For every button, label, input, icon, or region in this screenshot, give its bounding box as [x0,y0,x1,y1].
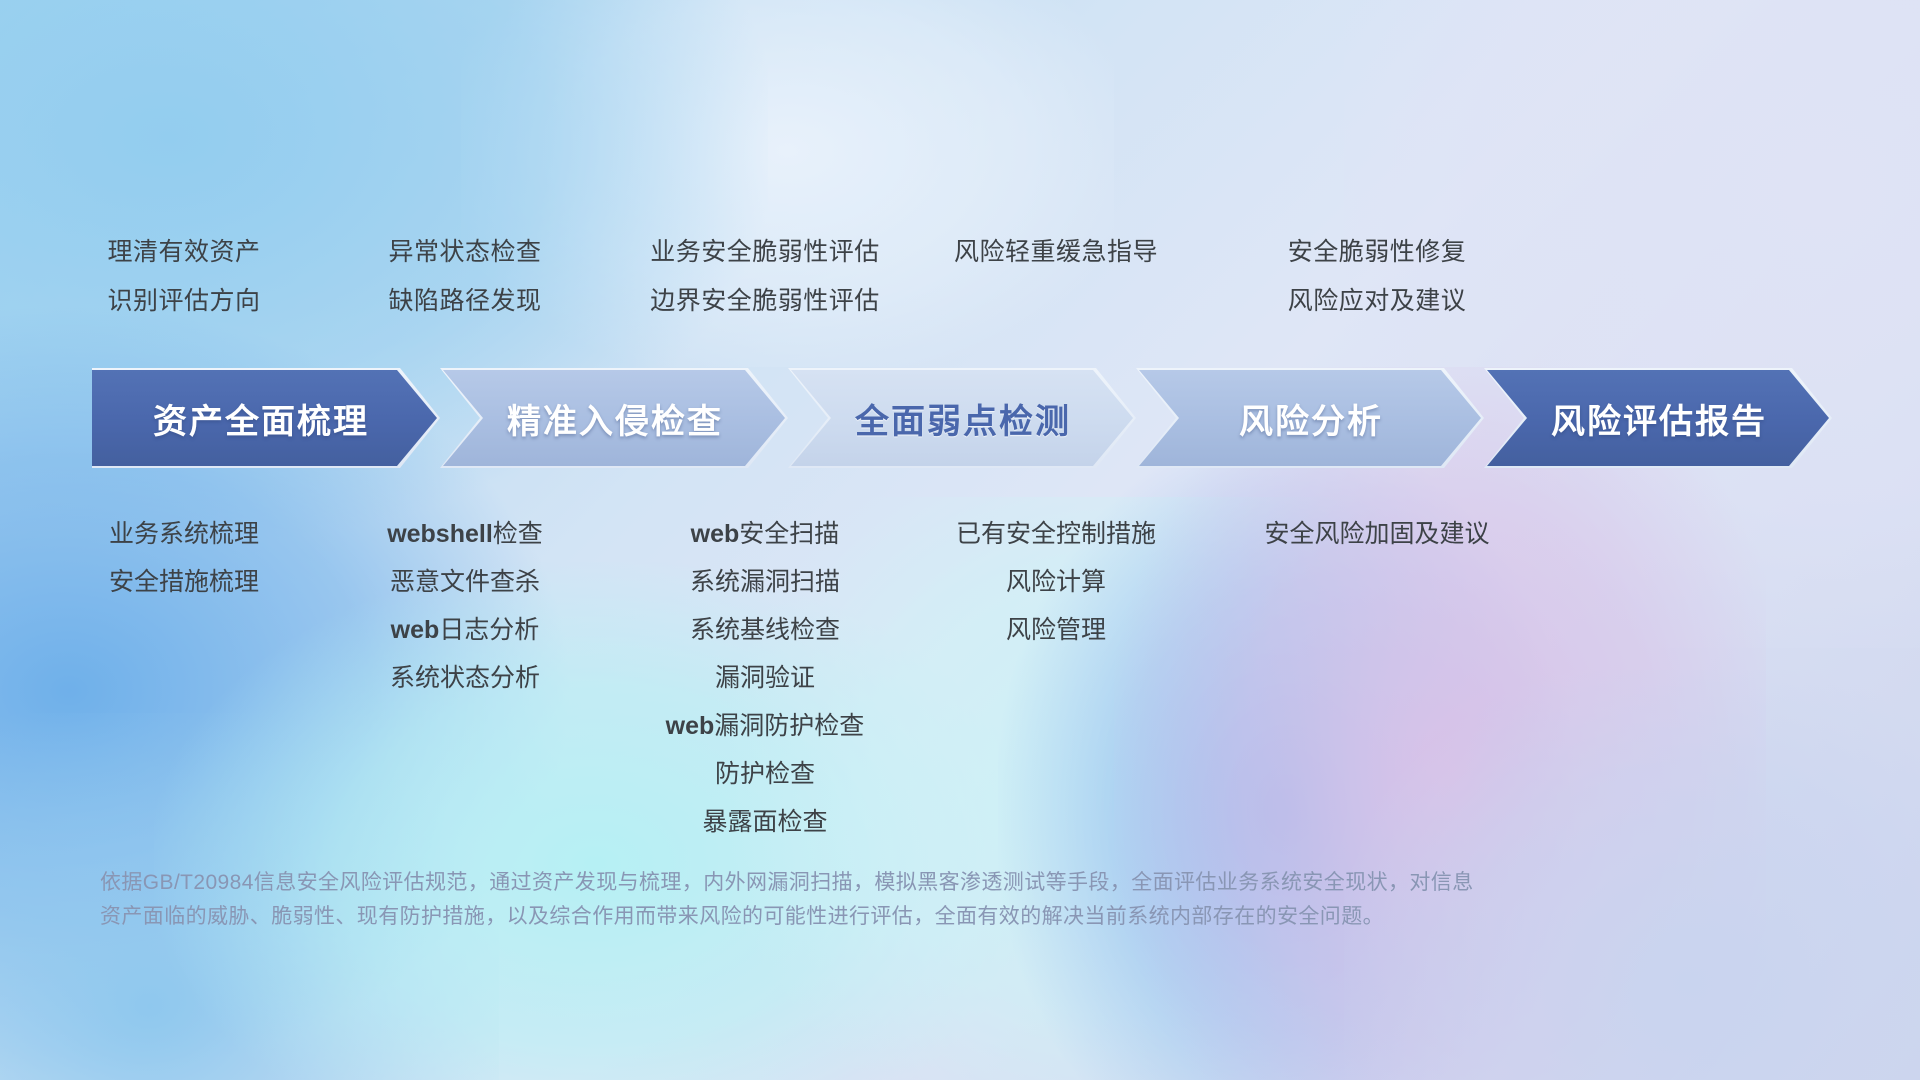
bottom-caption-item: 安全措施梳理 [109,558,259,606]
stage-arrow-3[interactable]: 全面弱点检测 [788,368,1136,468]
top-caption-item: 业务安全脆弱性评估 [650,228,880,277]
bottom-caption-item: 风险管理 [1006,606,1106,654]
top-caption-group-5: 安全脆弱性修复风险应对及建议 [1197,228,1557,326]
stage-arrow-label: 资产全面梳理 [153,394,369,443]
stage-arrow-label: 精准入侵检查 [507,394,723,443]
bottom-caption-item: 暴露面检查 [702,798,827,846]
stage-arrow-2[interactable]: 精准入侵检查 [440,368,788,468]
stage-arrow-1[interactable]: 资产全面梳理 [92,368,440,468]
bottom-caption-item: 系统状态分析 [390,654,540,702]
footer-description: 依据GB/T20984信息安全风险评估规范，通过资产发现与梳理，内外网漏洞扫描，… [100,866,1620,934]
bottom-caption-keyword: web [391,616,440,644]
top-caption-item: 异常状态检查 [388,228,541,277]
bottom-caption-item: web漏洞防护检查 [666,702,865,750]
bottom-caption-keyword: web [691,520,740,548]
bottom-caption-group-5: 安全风险加固及建议 [1197,510,1557,558]
top-caption-item: 安全脆弱性修复 [1288,228,1467,277]
bottom-caption-item: 业务系统梳理 [109,510,259,558]
bottom-caption-item: 漏洞验证 [715,654,815,702]
bottom-caption-item: 已有安全控制措施 [956,510,1156,558]
top-caption-item: 识别评估方向 [107,277,260,326]
footer-line-2: 资产面临的威胁、脆弱性、现有防护措施，以及综合作用而带来风险的可能性进行评估，全… [100,900,1620,934]
bottom-caption-group-4: 已有安全控制措施风险计算风险管理 [876,510,1236,654]
stage-arrow-4[interactable]: 风险分析 [1136,368,1484,468]
bottom-caption-keyword: webshell [387,520,493,548]
bottom-caption-item: web安全扫描 [691,510,840,558]
stage-arrow-label: 全面弱点检测 [855,394,1071,443]
top-caption-item: 缺陷路径发现 [388,277,541,326]
stage-arrow-label: 风险分析 [1239,394,1383,443]
bottom-caption-item: 风险计算 [1006,558,1106,606]
stage-arrow-band: 资产全面梳理精准入侵检查全面弱点检测风险分析风险评估报告 [92,368,1832,468]
bottom-caption-item: webshell检查 [387,510,543,558]
bottom-caption-item: web日志分析 [391,606,540,654]
top-caption-item: 边界安全脆弱性评估 [650,277,880,326]
process-diagram: 理清有效资产识别评估方向异常状态检查缺陷路径发现业务安全脆弱性评估边界安全脆弱性… [0,0,1920,1080]
stage-arrow-5[interactable]: 风险评估报告 [1484,368,1832,468]
bottom-caption-item: 系统漏洞扫描 [690,558,840,606]
bottom-caption-item: 系统基线检查 [690,606,840,654]
top-captions-row: 理清有效资产识别评估方向异常状态检查缺陷路径发现业务安全脆弱性评估边界安全脆弱性… [0,228,1920,338]
bottom-caption-item: 防护检查 [715,750,815,798]
footer-line-1: 依据GB/T20984信息安全风险评估规范，通过资产发现与梳理，内外网漏洞扫描，… [100,866,1620,900]
bottom-caption-keyword: web [666,712,715,740]
top-caption-item: 风险应对及建议 [1288,277,1467,326]
bottom-caption-item: 恶意文件查杀 [390,558,540,606]
bottom-caption-item: 安全风险加固及建议 [1264,510,1489,558]
top-caption-item: 风险轻重缓急指导 [954,228,1158,277]
top-caption-item: 理清有效资产 [107,228,260,277]
stage-arrow-label: 风险评估报告 [1551,394,1767,443]
top-caption-group-4: 风险轻重缓急指导 [876,228,1236,277]
